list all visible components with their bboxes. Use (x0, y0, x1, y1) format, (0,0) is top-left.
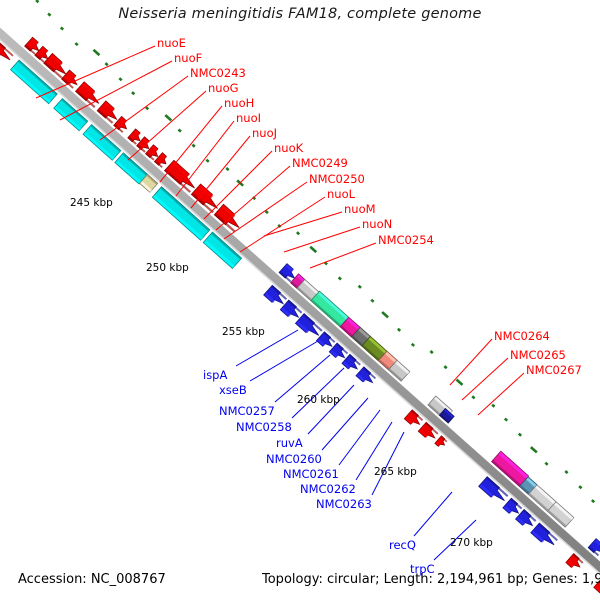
trna-tick (146, 107, 148, 109)
trna-tick (192, 145, 194, 147)
gene-label-nmc0262[interactable]: NMC0262 (300, 482, 356, 496)
trna-tick (565, 471, 567, 473)
gene-label-nuog[interactable]: nuoG (208, 81, 239, 95)
gene-label-nuok[interactable]: nuoK (274, 141, 303, 155)
trna-tick (226, 168, 228, 170)
genome-diagram-canvas (0, 0, 600, 600)
scale-marker: 270 kbp (450, 537, 493, 549)
leader-line (216, 166, 290, 230)
trna-tick (531, 447, 537, 452)
scale-marker: 245 kbp (70, 197, 113, 209)
trna-tick (371, 300, 373, 302)
trna-tick (398, 329, 400, 331)
trna-tick (105, 63, 107, 65)
scale-marker: 260 kbp (297, 394, 340, 406)
trna-tick (132, 92, 134, 94)
gene-label-nmc0250[interactable]: NMC0250 (309, 172, 365, 186)
gene-label-nmc0264[interactable]: NMC0264 (494, 329, 550, 343)
gene-feature (435, 436, 448, 447)
gene-label-nuof[interactable]: nuoF (174, 51, 202, 65)
leader-line (128, 91, 206, 160)
gene-label-ruva[interactable]: ruvA (276, 436, 303, 450)
gene-label-nmc0249[interactable]: NMC0249 (292, 156, 348, 170)
trna-tick (592, 500, 594, 502)
gene-label-nmc0265[interactable]: NMC0265 (510, 348, 566, 362)
gene-label-nmc0257[interactable]: NMC0257 (219, 404, 275, 418)
gene-label-nmc0261[interactable]: NMC0261 (283, 467, 339, 481)
trna-tick (36, 0, 38, 2)
genome-stats-text: Topology: circular; Length: 2,194,961 bp… (262, 572, 600, 587)
gene-label-nuoh[interactable]: nuoH (224, 96, 254, 110)
label-leader-lines (36, 46, 524, 560)
gene-label-nuoi[interactable]: nuoI (236, 111, 261, 125)
trna-tick (444, 366, 446, 368)
trna-tick (545, 463, 547, 465)
leader-line (224, 182, 307, 239)
trna-tick (48, 13, 50, 15)
trna-tick (492, 405, 494, 407)
leader-line (191, 136, 250, 208)
trna-tick (165, 115, 171, 120)
trna-tick (505, 419, 507, 421)
gene-feature (128, 129, 141, 145)
trna-tick (119, 78, 121, 80)
leader-line (414, 492, 452, 536)
gene-label-nmc0258[interactable]: NMC0258 (236, 420, 292, 434)
footer-bar: Accession: NC_008767 Topology: circular;… (0, 572, 600, 592)
trna-tick (310, 247, 316, 252)
gene-label-nuol[interactable]: nuoL (327, 187, 355, 201)
trna-tick (206, 160, 208, 162)
trna-tick (456, 380, 462, 385)
gene-label-nmc0260[interactable]: NMC0260 (266, 452, 322, 466)
leader-line (240, 197, 325, 252)
leader-line (250, 341, 318, 381)
leader-line (264, 212, 342, 236)
trna-tick (519, 434, 521, 436)
gene-label-recq[interactable]: recQ (389, 538, 416, 552)
trna-tick (430, 351, 432, 353)
trna-tick (412, 344, 414, 346)
leader-line (176, 121, 234, 196)
trna-tick-layer (14, 0, 600, 526)
trna-tick (75, 43, 77, 45)
leader-line (284, 227, 360, 252)
leader-line (204, 151, 272, 219)
leader-line (310, 243, 376, 268)
trna-tick (472, 396, 474, 398)
leader-line (372, 432, 404, 495)
gene-label-nuoe[interactable]: nuoE (157, 36, 186, 50)
trna-tick (266, 211, 268, 213)
trna-tick (297, 232, 299, 234)
gene-label-nmc0243[interactable]: NMC0243 (190, 66, 246, 80)
accession-text: Accession: NC_008767 (18, 572, 166, 587)
gene-label-nuoj[interactable]: nuoJ (252, 126, 277, 140)
trna-tick (339, 277, 341, 279)
trna-tick (93, 50, 99, 55)
gene-label-nmc0263[interactable]: NMC0263 (316, 497, 372, 511)
gene-label-nuom[interactable]: nuoM (344, 202, 376, 216)
trna-tick (382, 312, 388, 317)
trna-tick (178, 130, 180, 132)
gene-label-nmc0267[interactable]: NMC0267 (526, 363, 582, 377)
leader-line (339, 410, 380, 465)
leader-line (292, 368, 344, 418)
trna-tick (61, 27, 63, 29)
gene-label-xseb[interactable]: xseB (219, 383, 247, 397)
gene-label-nmc0254[interactable]: NMC0254 (378, 233, 434, 247)
scale-marker: 250 kbp (146, 262, 189, 274)
gene-label-ispa[interactable]: ispA (203, 368, 227, 382)
genome-axis (0, 14, 600, 583)
gene-label-nuon[interactable]: nuoN (362, 217, 392, 231)
trna-tick (579, 486, 581, 488)
leader-line (308, 385, 354, 434)
trna-tick (359, 286, 361, 288)
genome-map-viewer: Neisseria meningitidis FAM18, complete g… (0, 0, 600, 600)
scale-marker: 265 kbp (374, 466, 417, 478)
scale-marker: 255 kbp (222, 326, 265, 338)
